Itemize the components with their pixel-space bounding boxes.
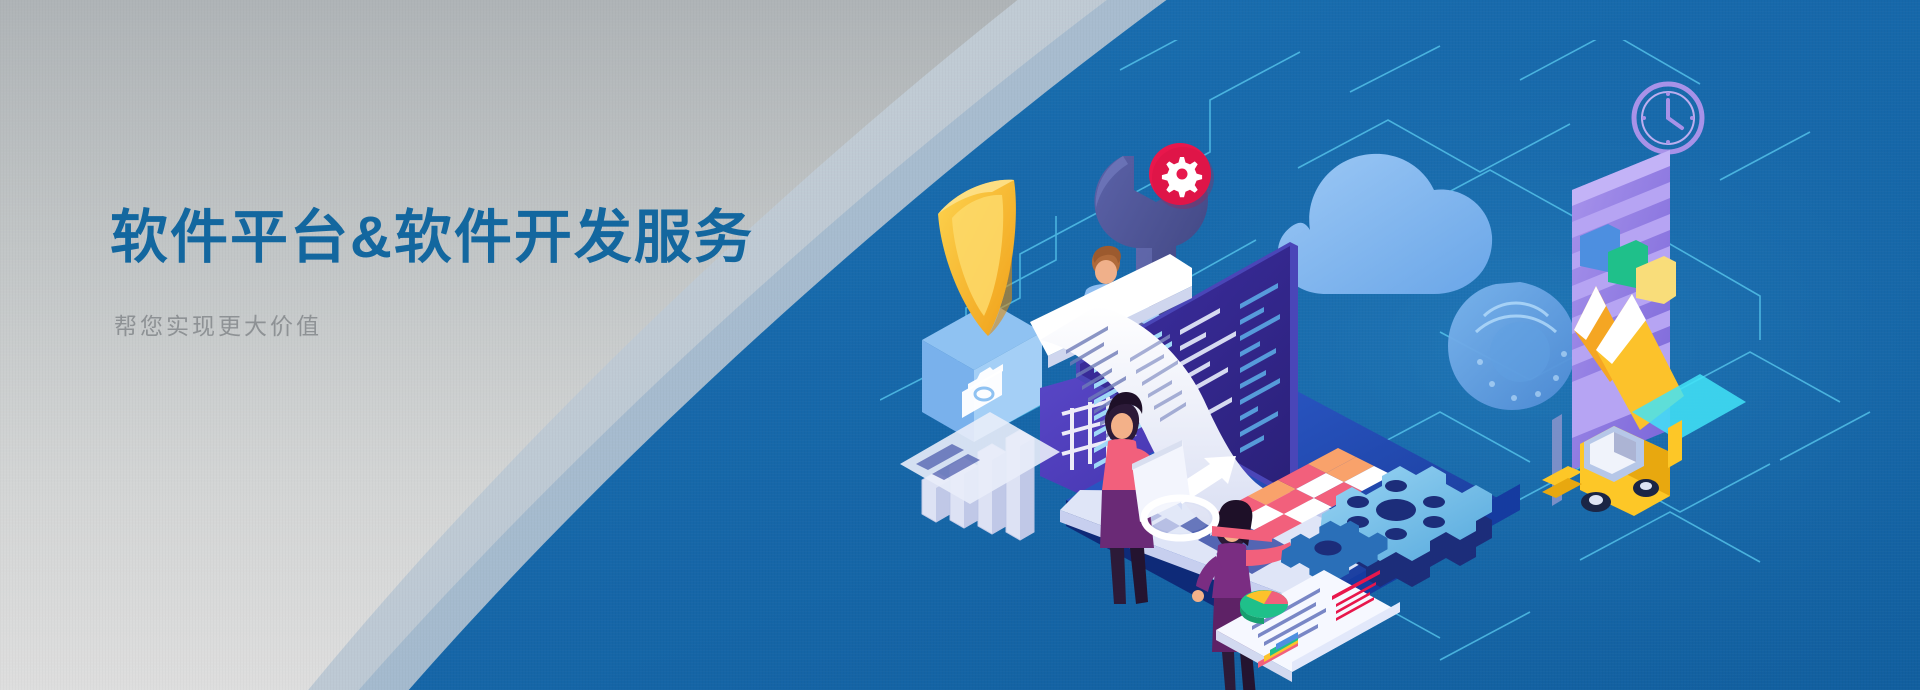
banner-copy: 软件平台&软件开发服务 帮您实现更大价值 xyxy=(110,205,870,342)
clock-icon xyxy=(1634,84,1702,152)
hero-illustration xyxy=(880,40,1920,690)
3d-bar-chart xyxy=(900,412,1060,540)
page-title: 软件平台&软件开发服务 xyxy=(110,205,870,272)
page-subtitle: 帮您实现更大价值 xyxy=(114,310,870,342)
security-shield xyxy=(938,180,1016,336)
gear-icon xyxy=(1162,157,1202,197)
hero-banner: 软件平台&软件开发服务 帮您实现更大价值 xyxy=(0,0,1920,690)
